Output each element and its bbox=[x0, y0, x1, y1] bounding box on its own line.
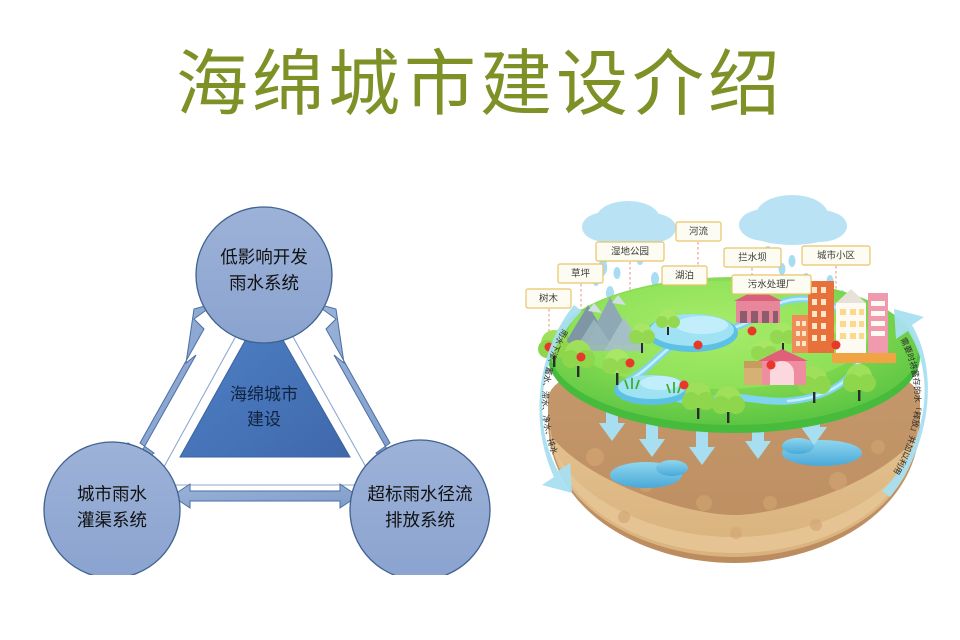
sponge-city-triangle-diagram: 低影响开发 雨水系统 城市雨水 灌渠系统 超标雨水径流 排放系统 海绵城市 建设 bbox=[20, 185, 520, 575]
sidebar-node-excess-runoff-discharge[interactable]: 超标雨水径流 排放系统 bbox=[350, 440, 490, 575]
arrow-bottomleft-to-bottomright bbox=[172, 484, 358, 508]
node-circle-bottom-left[interactable] bbox=[44, 442, 180, 575]
sponge-city-cross-section-illustration: 树木 草坪 湿地公园 河流 湖泊 拦水坝 污水处理厂 城市小区 雨水下渗、蓄水、… bbox=[520, 185, 960, 585]
callout-lawn[interactable]: 草坪 bbox=[558, 264, 603, 283]
callout-label-water-retaining-dam: 拦水坝 bbox=[738, 252, 767, 264]
callout-river[interactable]: 河流 bbox=[676, 222, 721, 241]
callout-label-wetland-park: 湿地公园 bbox=[611, 246, 649, 258]
callout-urban-district[interactable]: 城市小区 bbox=[802, 246, 870, 265]
callout-label-sewage-plant: 污水处理厂 bbox=[748, 279, 796, 291]
node-bottom-left-label-line2: 灌渠系统 bbox=[77, 511, 147, 531]
callout-water-retaining-dam[interactable]: 拦水坝 bbox=[724, 248, 781, 267]
sidebar-node-urban-stormwater-drainage[interactable]: 城市雨水 灌渠系统 bbox=[44, 442, 180, 575]
sidebar-node-low-impact-development[interactable]: 低影响开发 雨水系统 bbox=[196, 207, 332, 343]
node-bottom-left-label-line1: 城市雨水 bbox=[77, 485, 147, 505]
node-top-label-line2: 雨水系统 bbox=[229, 274, 299, 294]
node-circle-bottom-right[interactable] bbox=[350, 440, 490, 575]
cloud-icon-right bbox=[739, 195, 847, 245]
callout-label-lawn: 草坪 bbox=[571, 268, 591, 280]
node-bottom-right-label-line2: 排放系统 bbox=[385, 511, 455, 531]
cloud-icon-left bbox=[582, 201, 676, 245]
center-label-line2: 建设 bbox=[247, 410, 281, 430]
callout-wetland-park[interactable]: 湿地公园 bbox=[596, 242, 664, 261]
callout-label-trees: 树木 bbox=[539, 293, 559, 305]
callout-trees[interactable]: 树木 bbox=[526, 289, 571, 308]
node-top-label-line1: 低影响开发 bbox=[220, 248, 308, 268]
node-bottom-right-label-line1: 超标雨水径流 bbox=[368, 485, 473, 505]
callout-label-urban-district: 城市小区 bbox=[817, 250, 856, 262]
center-label-line1: 海绵城市 bbox=[230, 385, 298, 405]
callout-sewage-plant[interactable]: 污水处理厂 bbox=[732, 275, 811, 294]
callout-label-lake: 湖泊 bbox=[675, 271, 694, 282]
page-title: 海绵城市建设介绍 bbox=[0, 44, 960, 124]
callout-lake[interactable]: 湖泊 bbox=[662, 266, 707, 285]
callout-label-river: 河流 bbox=[689, 226, 709, 238]
